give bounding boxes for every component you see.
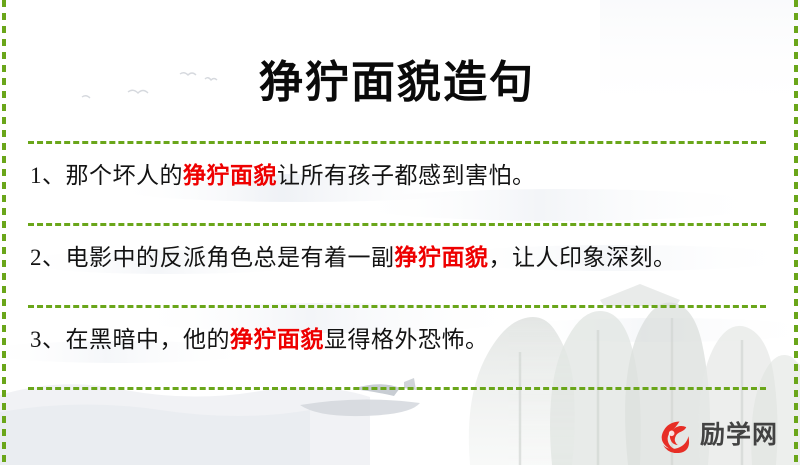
sentence-3-after: 显得格外恐怖。 (324, 327, 489, 352)
page-title: 狰狞面貌造句 (28, 29, 766, 105)
brand-name: 励学网 (700, 423, 778, 448)
sentence-item-2: 2、电影中的反派角色总是有着一副狰狞面貌，让人印象深刻。 (28, 226, 766, 276)
sentence-2-keyword: 狰狞面貌 (395, 245, 489, 270)
sentence-2-before: 电影中的反派角色总是有着一副 (66, 245, 395, 270)
sentence-1-index: 1、 (30, 163, 66, 188)
poster-page: 狰狞面貌造句 1、那个坏人的狰狞面貌让所有孩子都感到害怕。 2、电影中的反派角色… (0, 0, 800, 465)
right-edge-dashed-border (794, 0, 798, 465)
sentence-2-after: ，让人印象深刻。 (489, 245, 677, 270)
divider-4 (28, 387, 766, 390)
sentence-item-3: 3、在黑暗中，他的狰狞面貌显得格外恐怖。 (28, 308, 766, 358)
sentence-3-keyword: 狰狞面貌 (230, 327, 324, 352)
sentence-3-before: 在黑暗中，他的 (66, 327, 231, 352)
sentence-item-1: 1、那个坏人的狰狞面貌让所有孩子都感到害怕。 (28, 144, 766, 194)
sentence-1-before: 那个坏人的 (66, 163, 184, 188)
sentence-1-after: 让所有孩子都感到害怕。 (277, 163, 536, 188)
brand-watermark: 励学网 (657, 417, 778, 453)
flame-swirl-icon (657, 417, 693, 453)
content-area: 狰狞面貌造句 1、那个坏人的狰狞面貌让所有孩子都感到害怕。 2、电影中的反派角色… (0, 29, 800, 465)
sentence-1-keyword: 狰狞面貌 (183, 163, 277, 188)
sentence-2-index: 2、 (30, 245, 66, 270)
left-edge-dashed-border (2, 0, 6, 465)
sentence-3-index: 3、 (30, 327, 66, 352)
